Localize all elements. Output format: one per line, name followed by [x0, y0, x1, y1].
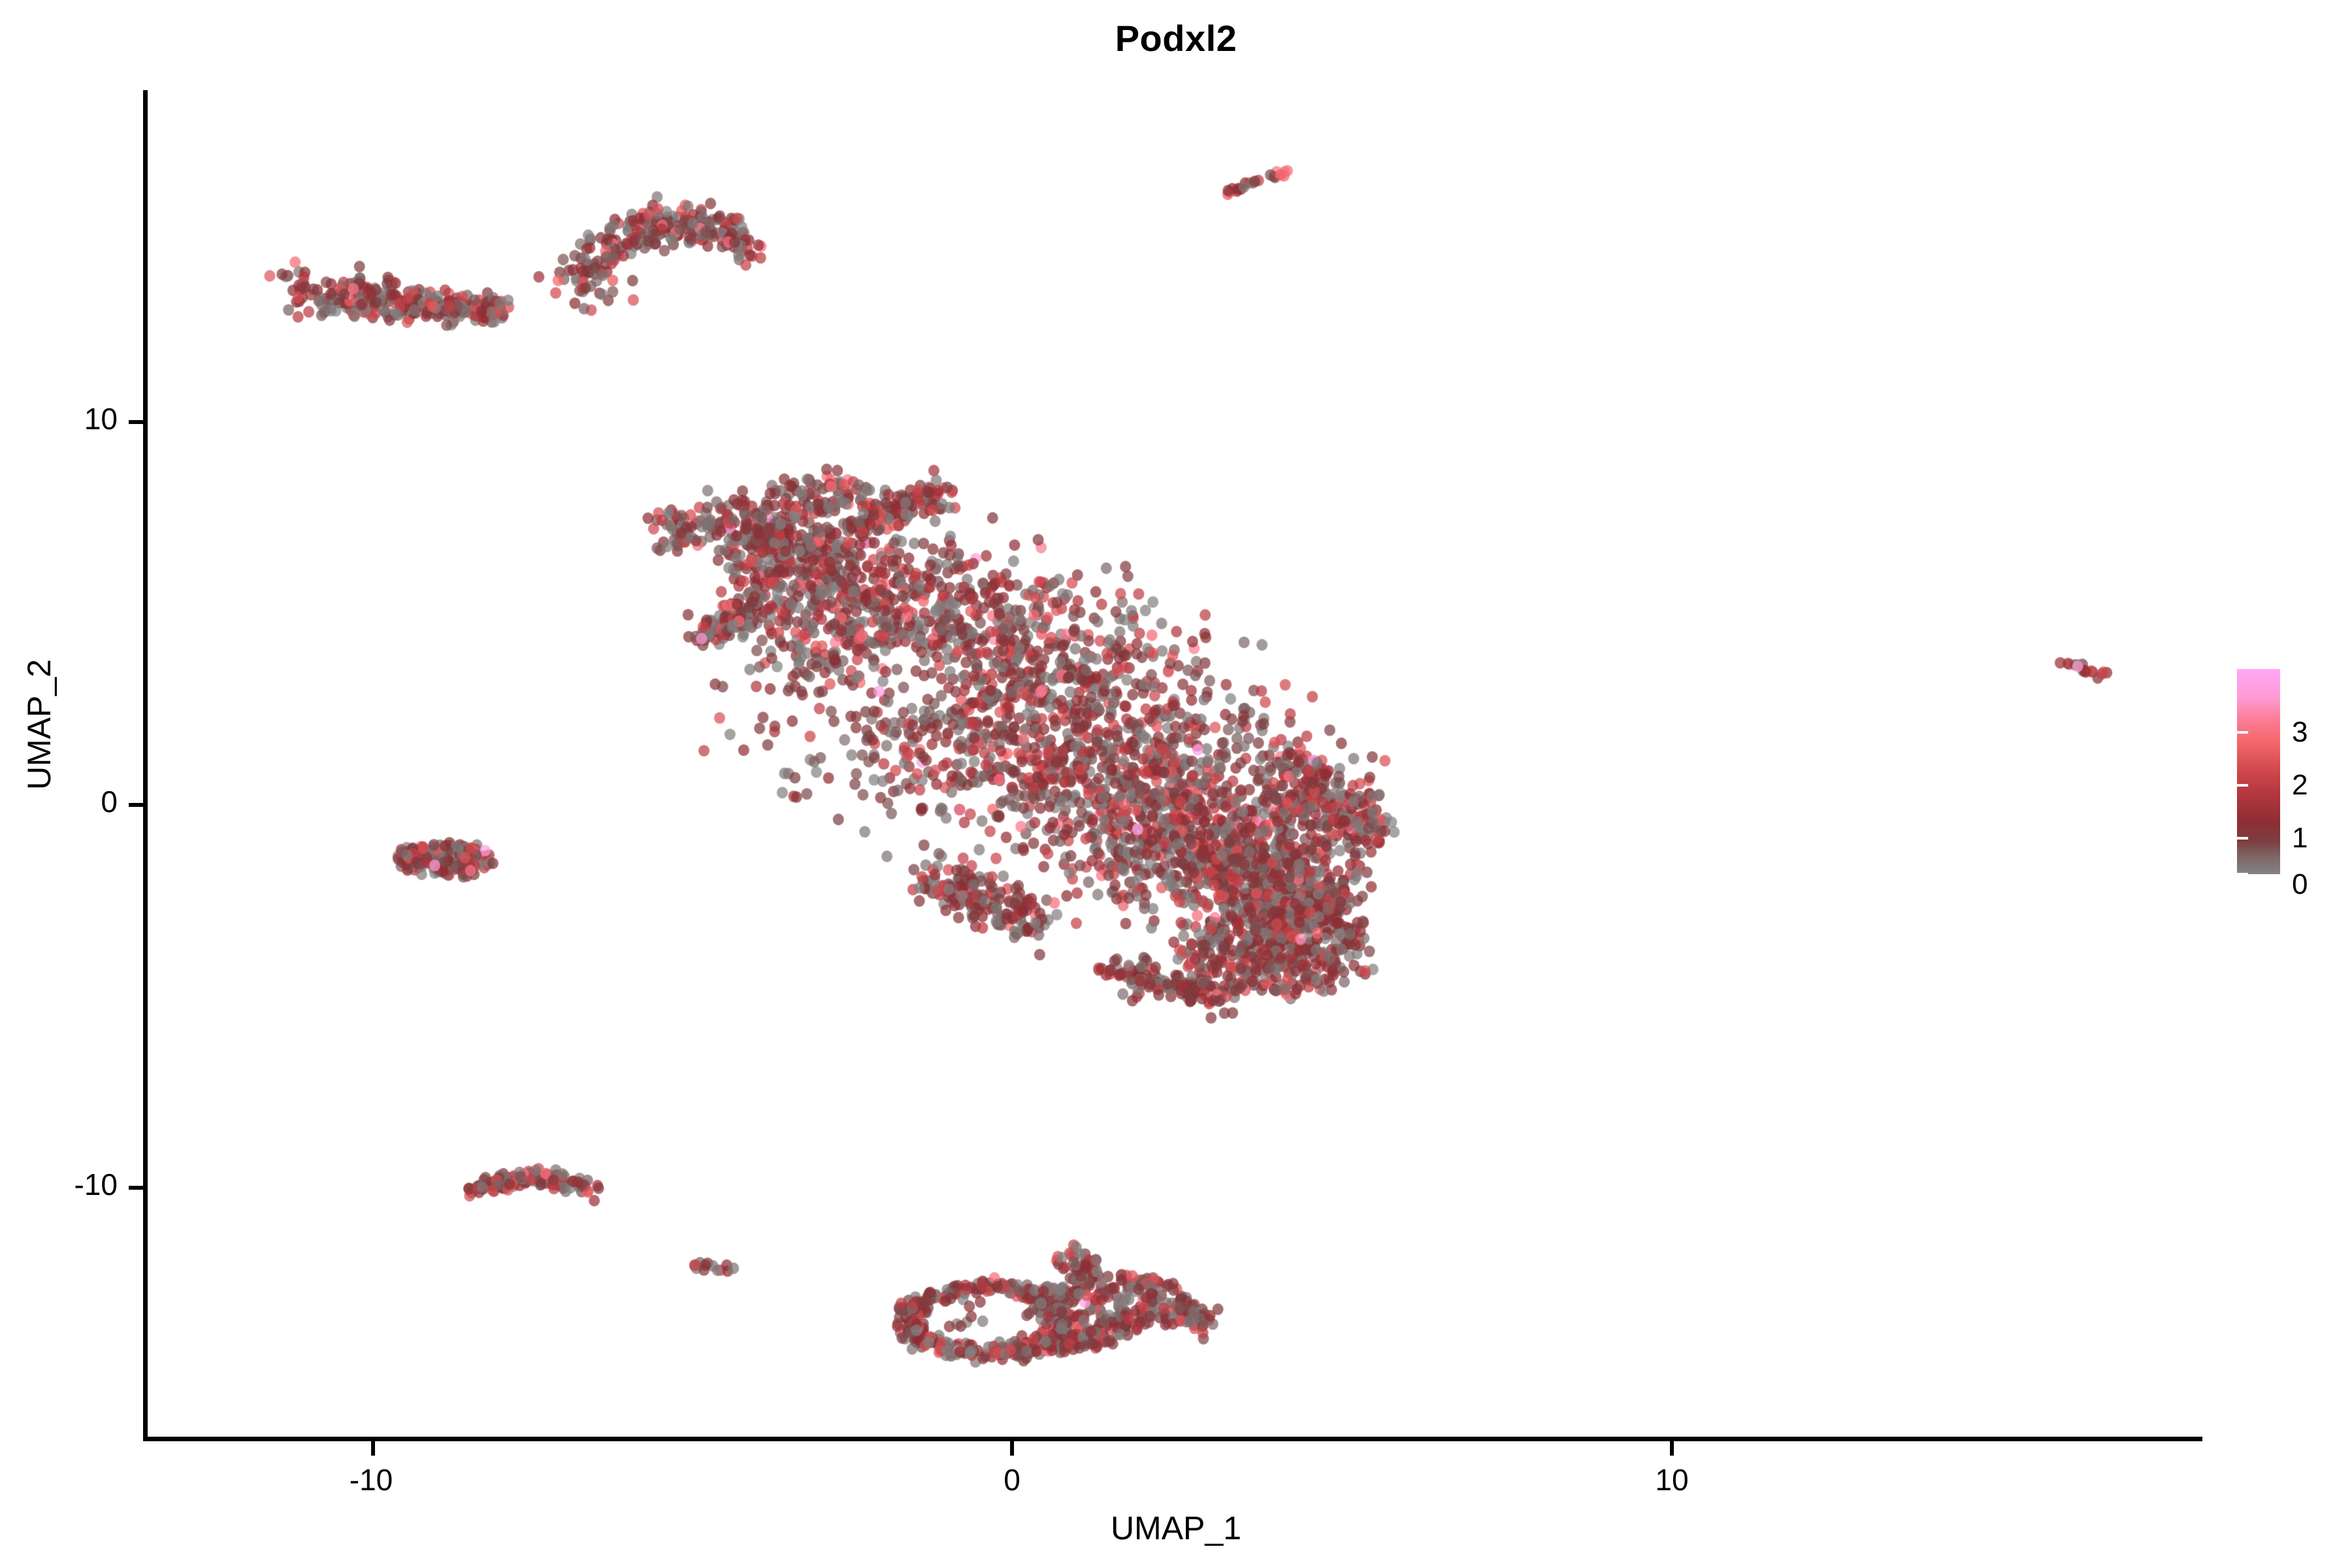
- x-axis-title: UMAP_1: [0, 1509, 2352, 1547]
- legend-tick-2-right: [2226, 784, 2237, 787]
- y-axis-line: [143, 90, 148, 1441]
- legend-tick-0-right: [2226, 873, 2237, 875]
- legend-gradient-bar: [2237, 669, 2280, 874]
- legend-label-0: 0: [2292, 868, 2308, 901]
- y-tick-mark--10: [129, 1186, 143, 1190]
- legend-tick-3-right: [2226, 731, 2237, 734]
- x-tick-mark--10: [371, 1441, 375, 1456]
- scatter-points-canvas: [148, 91, 2202, 1437]
- x-tick-label-0: 0: [1004, 1462, 1021, 1497]
- page-title: Podxl2: [0, 17, 2352, 59]
- legend-label-1: 1: [2292, 822, 2308, 855]
- y-tick-label--10: -10: [74, 1167, 118, 1202]
- x-tick-label-10: 10: [1655, 1462, 1688, 1497]
- y-axis-title: UMAP_2: [20, 515, 58, 934]
- y-tick-label-10: 10: [84, 401, 118, 436]
- y-tick-mark-10: [129, 420, 143, 424]
- legend-tick-1-right: [2226, 837, 2237, 840]
- legend-label-2: 2: [2292, 769, 2308, 802]
- x-tick-mark-0: [1010, 1441, 1014, 1456]
- y-tick-label-0: 0: [101, 784, 118, 819]
- x-tick-label--10: -10: [350, 1462, 393, 1497]
- y-tick-mark-0: [129, 803, 143, 807]
- x-tick-mark-10: [1670, 1441, 1674, 1456]
- legend-tick-1-left: [2237, 837, 2248, 840]
- plot-panel: [148, 91, 2202, 1437]
- legend-tick-3-left: [2237, 731, 2248, 734]
- x-axis-line: [143, 1437, 2202, 1441]
- umap-feature-plot: Podxl2 10 0 -10 -10 0 10 UMAP_1 UMAP_2 3…: [0, 0, 2352, 1568]
- legend-tick-2-left: [2237, 784, 2248, 787]
- legend-tick-0-left: [2237, 873, 2248, 875]
- legend-label-3: 3: [2292, 716, 2308, 749]
